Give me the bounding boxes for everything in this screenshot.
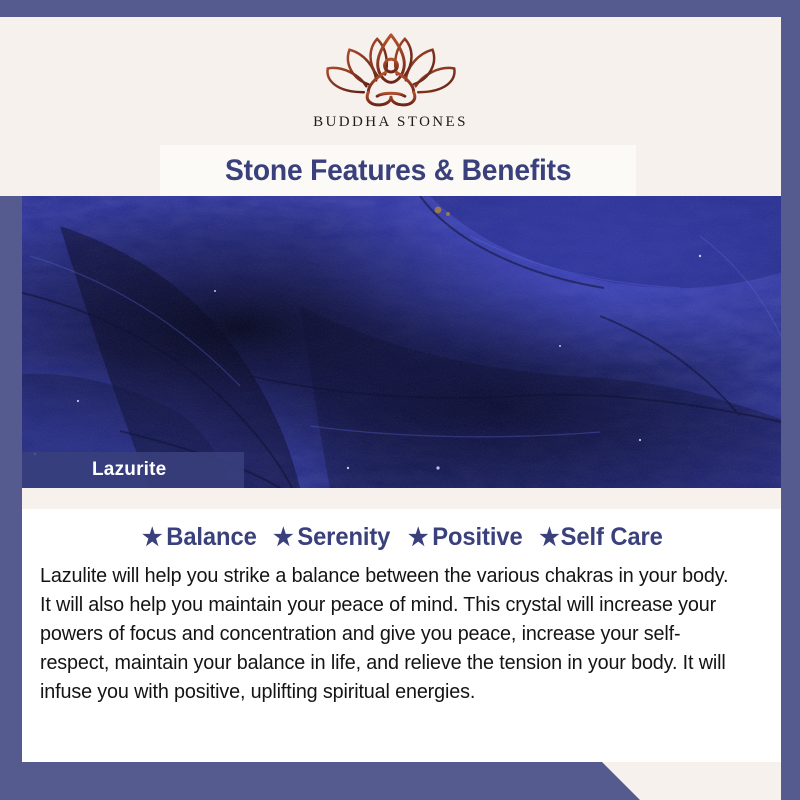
benefit-label: Balance bbox=[166, 523, 256, 552]
star-icon: ★ bbox=[540, 526, 560, 550]
title-band: Stone Features & Benefits bbox=[0, 145, 781, 196]
star-icon: ★ bbox=[142, 526, 162, 550]
benefit-label: Self Care bbox=[561, 523, 663, 552]
right-frame-gutter bbox=[781, 0, 800, 800]
poster-root: BUDDHA STONES Stone Features & Benefits bbox=[0, 0, 800, 800]
star-icon: ★ bbox=[408, 526, 428, 550]
title-plate: Stone Features & Benefits bbox=[160, 145, 636, 196]
lotus-meditating-figure-icon bbox=[316, 27, 466, 111]
page-title: Stone Features & Benefits bbox=[225, 154, 571, 188]
benefit-label: Positive bbox=[432, 523, 522, 552]
stone-description: Lazulite will help you strike a balance … bbox=[40, 561, 740, 707]
benefit-item: ★ Positive bbox=[408, 523, 523, 552]
left-frame-rail bbox=[0, 196, 22, 762]
benefit-label: Serenity bbox=[298, 523, 391, 552]
content-card: ★ Balance ★ Serenity ★ Positive ★ Self C… bbox=[22, 509, 781, 762]
brand-name: BUDDHA STONES bbox=[313, 114, 468, 131]
brand-header: BUDDHA STONES bbox=[0, 17, 781, 145]
top-frame-gutter bbox=[0, 0, 800, 17]
stone-name-chip: Lazurite bbox=[22, 452, 244, 488]
bottom-frame-bar bbox=[0, 762, 640, 800]
stone-photo bbox=[0, 196, 800, 488]
cream-separator bbox=[22, 488, 781, 509]
star-icon: ★ bbox=[273, 526, 293, 550]
benefit-item: ★ Serenity bbox=[273, 523, 390, 552]
benefits-row: ★ Balance ★ Serenity ★ Positive ★ Self C… bbox=[40, 523, 765, 552]
benefit-item: ★ Self Care bbox=[540, 523, 664, 552]
benefit-item: ★ Balance bbox=[142, 523, 257, 552]
stone-name-label: Lazurite bbox=[92, 459, 166, 481]
